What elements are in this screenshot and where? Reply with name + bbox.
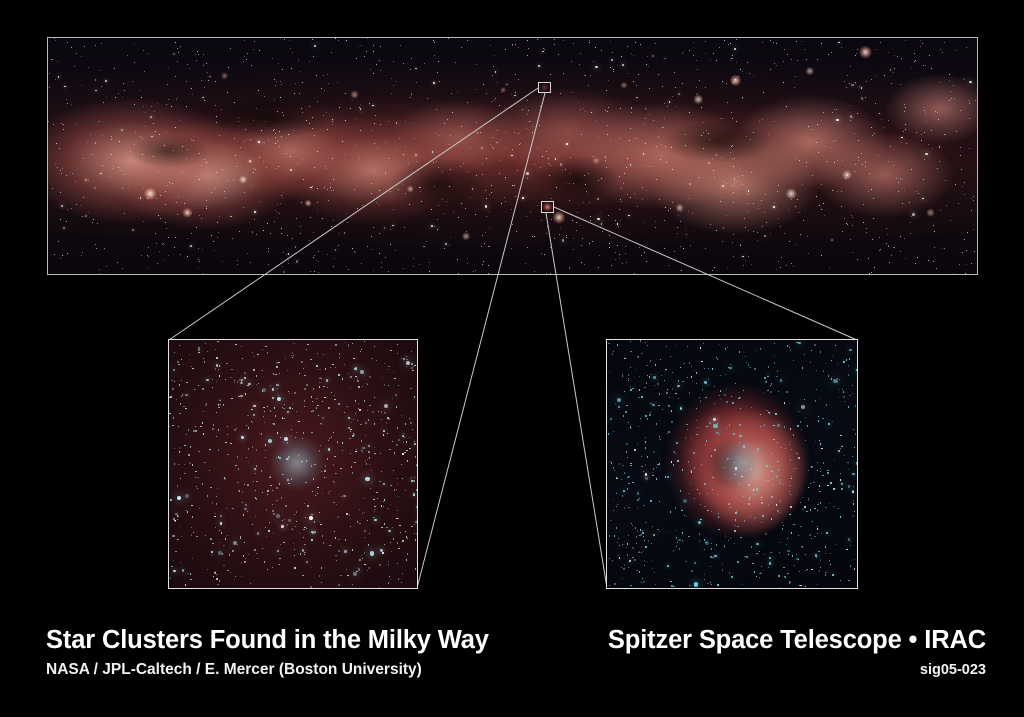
nebula-bubble-detail-panel [606,339,858,589]
instrument-title: Spitzer Space Telescope • IRAC [500,625,986,655]
callout-box-top [538,82,551,93]
callout-box-bottom [541,201,554,213]
milky-way-panorama [47,37,978,275]
callout-top-content [540,84,549,91]
caption-right-block: Spitzer Space Telescope • IRAC sig05-023 [500,625,986,681]
embedded-cluster-glow [715,440,767,486]
poster-root: Star Clusters Found in the Milky Way NAS… [0,0,1024,717]
panorama-bright-knots [48,38,977,274]
image-release-id: sig05-023 [500,659,986,681]
callout-bottom-content [543,203,552,211]
star-cluster-detail-panel [168,339,418,589]
central-star-cluster-glow [269,435,325,491]
